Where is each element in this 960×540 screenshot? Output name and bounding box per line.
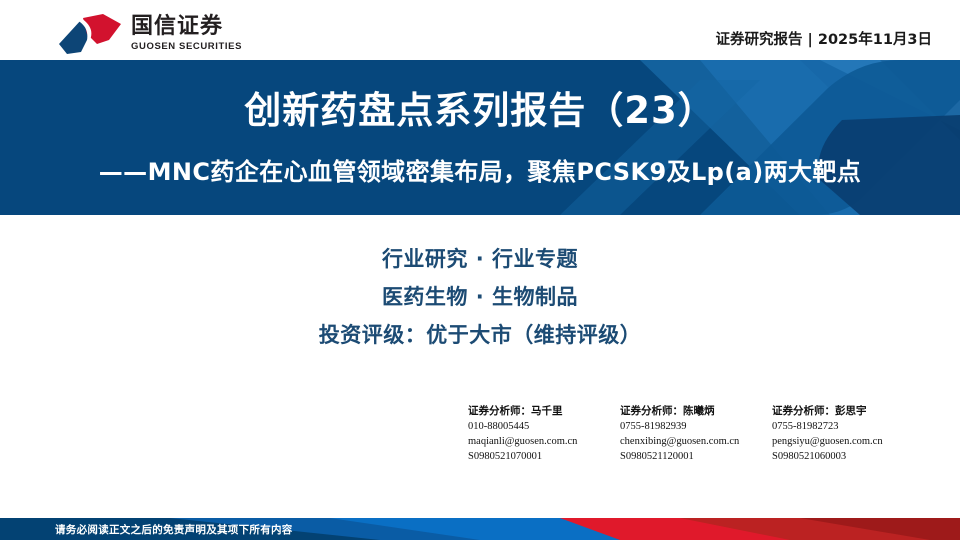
analyst-phone: 0755-81982939 (620, 419, 772, 434)
banner-text-block: 创新药盘点系列报告（23） ——MNC药企在心血管领域密集布局，聚焦PCSK9及… (0, 60, 960, 215)
analyst-name: 证券分析师：陈曦炳 (620, 403, 772, 419)
analyst-license: S0980521120001 (620, 449, 772, 464)
brand-name-cn: 国信证券 (131, 14, 242, 40)
analyst-card: 证券分析师：陈曦炳 0755-81982939 chenxibing@guose… (620, 403, 772, 464)
analyst-license: S0980521070001 (468, 449, 620, 464)
analyst-name: 证券分析师：彭思宇 (772, 403, 924, 419)
analyst-contacts: 证券分析师：马千里 010-88005445 maqianli@guosen.c… (468, 403, 938, 464)
report-title: 创新药盘点系列报告（23） (0, 88, 960, 134)
analyst-card: 证券分析师：马千里 010-88005445 maqianli@guosen.c… (468, 403, 620, 464)
analyst-phone: 0755-81982723 (772, 419, 924, 434)
guosen-logo-mark (57, 14, 125, 56)
analyst-license: S0980521060003 (772, 449, 924, 464)
analyst-email: maqianli@guosen.com.cn (468, 434, 620, 449)
analyst-email: pengsiyu@guosen.com.cn (772, 434, 924, 449)
analyst-phone: 010-88005445 (468, 419, 620, 434)
industry-research-line: 行业研究 · 行业专题 (0, 240, 960, 278)
page-footer: 请务必阅读正文之后的免责声明及其项下所有内容 (0, 518, 960, 540)
analyst-email: chenxibing@guosen.com.cn (620, 434, 772, 449)
report-classification-block: 行业研究 · 行业专题 医药生物 · 生物制品 投资评级：优于大市（维持评级） (0, 240, 960, 354)
title-banner: 创新药盘点系列报告（23） ——MNC药企在心血管领域密集布局，聚焦PCSK9及… (0, 60, 960, 215)
report-type-date: 证券研究报告 | 2025年11月3日 (715, 28, 932, 49)
analyst-card: 证券分析师：彭思宇 0755-81982723 pengsiyu@guosen.… (772, 403, 924, 464)
brand-name-en: GUOSEN SECURITIES (131, 41, 242, 53)
analyst-name: 证券分析师：马千里 (468, 403, 620, 419)
report-subtitle: ——MNC药企在心血管领域密集布局，聚焦PCSK9及Lp(a)两大靶点 (0, 155, 960, 189)
investment-rating-line: 投资评级：优于大市（维持评级） (0, 316, 960, 354)
footer-disclaimer: 请务必阅读正文之后的免责声明及其项下所有内容 (55, 518, 293, 540)
brand-wordmark: 国信证券 GUOSEN SECURITIES (131, 14, 242, 53)
brand-logo: 国信证券 GUOSEN SECURITIES (57, 14, 242, 56)
sector-line: 医药生物 · 生物制品 (0, 278, 960, 316)
page-header: 国信证券 GUOSEN SECURITIES 证券研究报告 | 2025年11月… (0, 0, 960, 60)
